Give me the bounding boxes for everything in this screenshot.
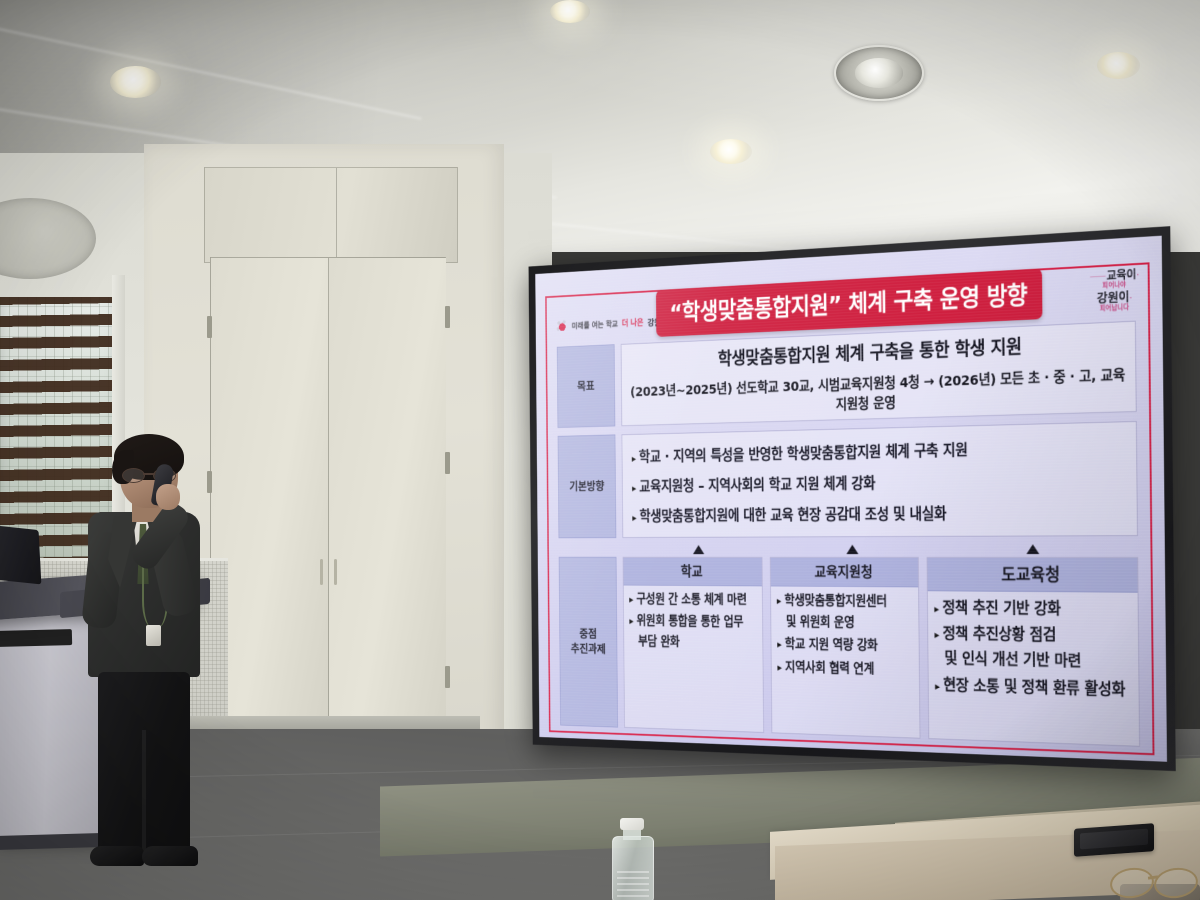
focus-item-text: 지역사회 협력 연계 (785, 659, 874, 676)
bullet-icon: ▸ (629, 615, 633, 627)
direction-bullet-text: 학생맞춤통합지원에 대한 교육 현장 공감대 조성 및 내실화 (639, 505, 946, 524)
brand-dot-icon (555, 318, 568, 334)
presenter-id-badge (146, 625, 161, 646)
up-arrow-icon (1026, 544, 1039, 554)
row-label-focus-line1: 중점 (579, 627, 597, 642)
focus-column-office: 교육지원청 ▸학생맞춤통합지원센터및 위원회 운영 ▸학교 지원 역량 강화 ▸… (770, 557, 921, 739)
bullet-icon: ▸ (632, 512, 636, 524)
door-leaf-left[interactable] (211, 258, 329, 744)
focus-item-subtext: 및 위원회 운영 (777, 614, 913, 631)
projection-screen[interactable]: 미래를 여는 학교 더 나은 강원교육 “학생맞춤통합지원” 체계 구축 운영 … (529, 226, 1176, 771)
focus-item-text: 위원회 통합을 통한 업무 (636, 614, 743, 630)
direction-bullet: ▸학생맞춤통합지원에 대한 교육 현장 공감대 조성 및 내실화 (632, 501, 1125, 526)
bullet-icon: ▸ (632, 482, 636, 494)
door-handle[interactable] (320, 559, 323, 585)
double-door[interactable] (210, 257, 446, 745)
black-tray[interactable] (1074, 823, 1154, 857)
focus-columns: 학교 ▸구성원 간 소통 체계 마련 ▸위원회 통합을 통한 업무부담 완화 교… (623, 545, 1141, 747)
bullet-icon: ▸ (629, 594, 633, 606)
table-eyeglass-lens-left (1108, 865, 1156, 900)
door-hinge (445, 452, 450, 474)
table-eyeglass-lens-right (1152, 865, 1200, 900)
focus-item: ▸지역사회 협력 연계 (777, 659, 913, 677)
presenter (70, 440, 210, 860)
leaf-icon: · (1129, 294, 1132, 304)
focus-item-text: 현장 소통 및 정책 환류 활성화 (943, 675, 1125, 698)
water-bottle[interactable] (608, 818, 656, 900)
bullet-icon: ▸ (935, 680, 940, 693)
direction-bullet-text: 교육지원청 – 지역사회의 학교 지원 체계 강화 (639, 475, 875, 495)
focus-column-school: 학교 ▸구성원 간 소통 체계 마련 ▸위원회 통합을 통한 업무부담 완화 (623, 557, 765, 733)
focus-item: ▸구성원 간 소통 체계 마련 (629, 592, 756, 608)
focus-item-text: 정책 추진 기반 강화 (942, 598, 1060, 618)
focus-item-text: 학생맞춤통합지원센터 (784, 593, 886, 609)
can-light-lens (855, 58, 903, 87)
door-hinge (445, 306, 450, 328)
row-label-focus-line2: 추진과제 (571, 641, 606, 657)
bottle-cap (620, 818, 644, 830)
bullet-icon: ▸ (934, 603, 939, 615)
column-header-school: 학교 (623, 558, 762, 587)
row-focus-tasks: 중점 추진과제 학교 (559, 545, 1140, 747)
focus-column-province: 도교육청 ▸정책 추진 기반 강화 ▸정책 추진상황 점검및 인식 개선 기반 … (927, 557, 1140, 747)
row-body-direction: ▸학교 · 지역의 특성을 반영한 학생맞춤통합지원 체계 구축 지원 ▸교육지… (622, 421, 1138, 538)
leaf-icon: · (1136, 271, 1139, 281)
door-hinge (445, 666, 450, 688)
column-header-province: 도교육청 (928, 558, 1138, 593)
row-label-goal: 목표 (557, 344, 615, 428)
eyeglass-lens-left (122, 468, 145, 483)
focus-item-text: 정책 추진상황 점검 (943, 624, 1057, 644)
brand-text-a: 미래를 여는 학교 (572, 318, 618, 331)
door-hinge (207, 316, 212, 338)
presenter-trousers (98, 672, 190, 854)
bullet-icon: ▸ (777, 661, 781, 673)
focus-item: ▸학생맞춤통합지원센터및 위원회 운영 (777, 593, 913, 631)
presenter-shoe-left (90, 846, 144, 866)
focus-item-text: 구성원 간 소통 체계 마련 (636, 592, 746, 608)
focus-item-subtext: 부담 완화 (629, 634, 756, 651)
focus-item-subtext: 및 인식 개선 기반 마련 (935, 649, 1132, 672)
ceiling-downlight (1097, 52, 1140, 79)
presenter-shoe-right (142, 846, 198, 866)
laptop[interactable] (0, 524, 41, 585)
column-body-office: ▸학생맞춤통합지원센터및 위원회 운영 ▸학교 지원 역량 강화 ▸지역사회 협… (771, 586, 919, 681)
column-header-office: 교육지원청 (771, 558, 919, 588)
focus-item: ▸위원회 통합을 통한 업무부담 완화 (629, 613, 757, 651)
ceiling-can-light (834, 45, 924, 101)
ceiling-downlight (110, 66, 160, 98)
eyeglass-bridge (143, 473, 155, 475)
row-label-direction: 기본방향 (558, 434, 617, 538)
campaign-slogan: ⸺교육이· 피어나야 강원이· 피어납니다 (1089, 265, 1139, 313)
eyeglasses-on-table[interactable] (1110, 866, 1200, 900)
column-body-school: ▸구성원 간 소통 체계 마련 ▸위원회 통합을 통한 업무부담 완화 (624, 585, 763, 655)
focus-item: ▸정책 추진 기반 강화 (934, 598, 1131, 619)
bullet-icon: ▸ (632, 453, 636, 465)
bottle-body (612, 836, 654, 900)
column-body-province: ▸정책 추진 기반 강화 ▸정책 추진상황 점검및 인식 개선 기반 마련 ▸현… (928, 591, 1139, 703)
cabinet-seam (336, 168, 337, 263)
slide-content: 미래를 여는 학교 더 나은 강원교육 “학생맞춤통합지원” 체계 구축 운영 … (535, 236, 1167, 762)
focus-item: ▸정책 추진상황 점검및 인식 개선 기반 마련 (934, 624, 1131, 672)
focus-item-text: 학교 지원 역량 강화 (785, 637, 878, 654)
photo-scene: 미래를 여는 학교 더 나은 강원교육 “학생맞춤통합지원” 체계 구축 운영 … (0, 0, 1200, 900)
slide-rows: 목표 학생맞춤통합지원 체계 구축을 통한 학생 지원 (2023년~2025년… (557, 321, 1140, 747)
upper-cabinet[interactable] (204, 167, 458, 264)
bullet-icon: ▸ (777, 639, 781, 651)
goal-detail: (2023년~2025년) 선도학교 30교, 시범교육지원청 4청 → (20… (630, 364, 1127, 420)
brand-text-b: 더 나은 (622, 316, 644, 329)
direction-bullet-text: 학교 · 지역의 특성을 반영한 학생맞춤통합지원 체계 구축 지원 (639, 442, 968, 466)
direction-bullet: ▸학교 · 지역의 특성을 반영한 학생맞춤통합지원 체계 구축 지원 (632, 435, 1125, 466)
ceiling-downlight (710, 139, 752, 164)
direction-bullet: ▸교육지원청 – 지역사회의 학교 지원 체계 강화 (632, 468, 1125, 496)
up-arrow-icon (846, 545, 858, 554)
focus-item: ▸현장 소통 및 정책 환류 활성화 (935, 675, 1132, 699)
row-direction: 기본방향 ▸학교 · 지역의 특성을 반영한 학생맞춤통합지원 체계 구축 지원… (558, 421, 1138, 538)
focus-item: ▸학교 지원 역량 강화 (777, 637, 913, 655)
bullet-icon: ▸ (777, 595, 781, 607)
door-leaf-right[interactable] (328, 258, 446, 744)
bullet-icon: ▸ (934, 629, 939, 641)
up-arrow-icon (693, 545, 704, 554)
presenter-hand (156, 484, 180, 510)
door-handle[interactable] (334, 559, 337, 585)
screen-bezel: 미래를 여는 학교 더 나은 강원교육 “학생맞춤통합지원” 체계 구축 운영 … (529, 226, 1176, 771)
row-label-focus: 중점 추진과제 (559, 557, 618, 728)
podium-slot (0, 629, 72, 647)
screen-panel: 미래를 여는 학교 더 나은 강원교육 “학생맞춤통합지원” 체계 구축 운영 … (535, 236, 1167, 762)
